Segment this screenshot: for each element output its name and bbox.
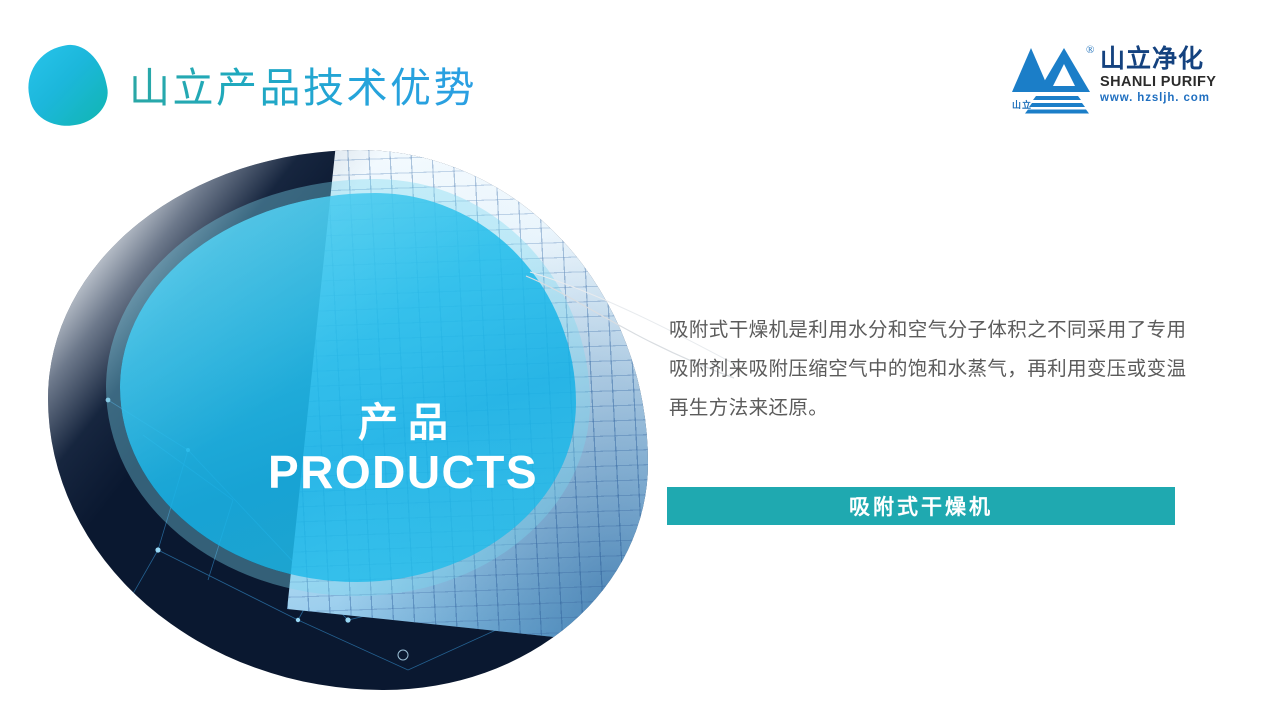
header-decoration-blob	[21, 39, 114, 133]
registered-trademark-icon: ®	[1086, 44, 1094, 56]
product-description: 吸附式干燥机是利用水分和空气分子体积之不同采用了专用吸附剂来吸附压缩空气中的饱和…	[669, 311, 1189, 428]
logo-name-cn: 山立净化	[1100, 46, 1226, 74]
logo-wordmark: 山立净化 SHANLI PURIFY www. hzsljh. com	[1100, 46, 1226, 105]
logo-name-en: SHANLI PURIFY	[1100, 74, 1226, 91]
product-blob-graphic: 产品 PRODUCTS	[48, 150, 648, 690]
product-name-banner[interactable]: 吸附式干燥机	[667, 487, 1175, 525]
blob-clip	[48, 150, 648, 690]
brand-logo[interactable]: ® 山立 山立净化 SHANLI PURIFY www. hzsljh. com	[1012, 42, 1224, 118]
product-name-label: 吸附式干燥机	[849, 491, 993, 521]
page-title: 山立产品技术优势	[129, 62, 477, 114]
logo-website: www. hzsljh. com	[1100, 91, 1226, 105]
logo-mark-label: 山立	[1012, 98, 1032, 111]
